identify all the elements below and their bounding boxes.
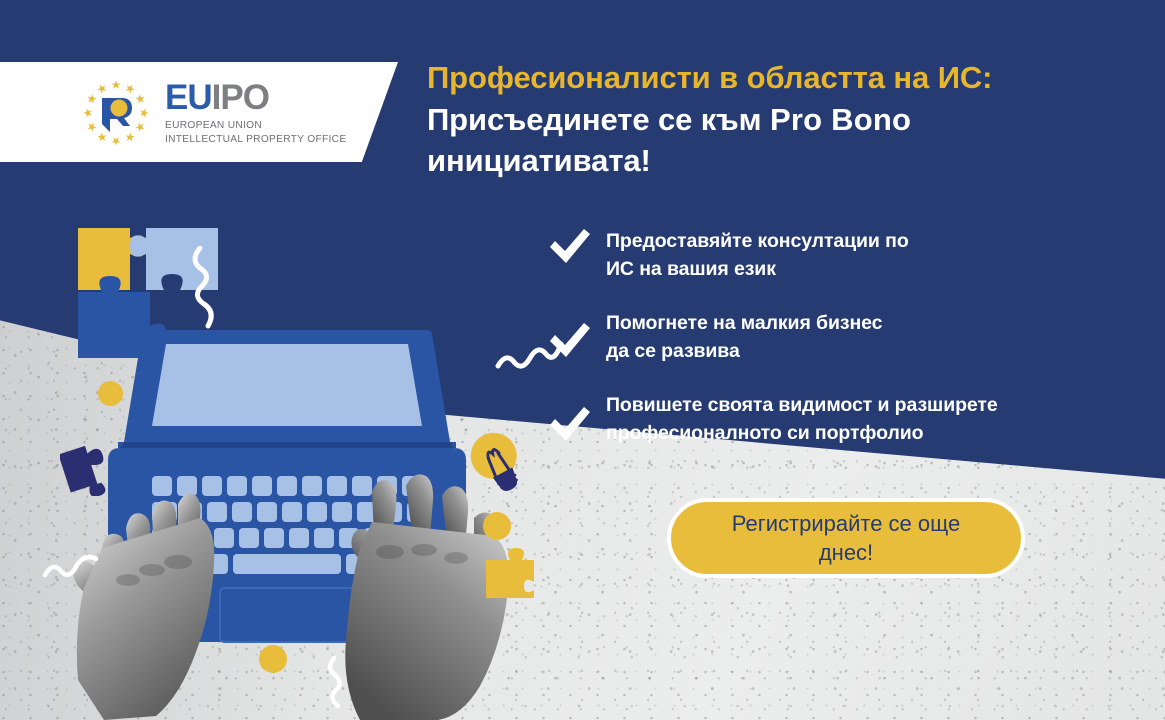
headline-line-2-emphasis: Pro Bono (770, 102, 911, 137)
list-item-line1: Предоставяйте консултации по (606, 230, 909, 252)
squiggle-icon (186, 246, 232, 335)
register-cta-label: Регистрирайте се още днес! (732, 509, 960, 568)
puzzle-piece-icon (484, 548, 538, 605)
register-cta-line1: Регистрирайте се още (732, 511, 960, 536)
check-icon (548, 322, 592, 360)
headline-line-3: инициативата! (427, 140, 1047, 182)
typing-hands-photo (60, 470, 530, 720)
dot-icon (483, 512, 511, 540)
list-item: Предоставяйте консултации по ИС на вашия… (548, 226, 1068, 284)
dot-icon (259, 645, 287, 673)
headline-line-2: Присъединете се към Pro Bono (427, 99, 1047, 141)
list-item: Повишете своята видимост и разширете про… (548, 390, 1068, 448)
check-icon (548, 406, 592, 444)
list-item-text: Помогнете на малкия бизнес да се развива (606, 308, 882, 366)
eu-stars-emblem-icon (78, 80, 154, 146)
list-item-line2: да се развива (606, 340, 740, 362)
list-item-text: Предоставяйте консултации по ИС на вашия… (606, 226, 909, 284)
logo-eu-text: EU (165, 80, 212, 115)
lightbulb-icon (463, 425, 533, 512)
logo-subtitle-line2: INTELLECTUAL PROPERTY OFFICE (165, 133, 346, 146)
headline-line-2-prefix: Присъединете се към (427, 102, 770, 137)
promotional-banner: EU IPO EUROPEAN UNION INTELLECTUAL PROPE… (0, 0, 1165, 720)
euipo-logo: EU IPO EUROPEAN UNION INTELLECTUAL PROPE… (78, 80, 346, 146)
list-item-text: Повишете своята видимост и разширете про… (606, 390, 998, 448)
check-icon (548, 228, 592, 266)
list-item-line1: Повишете своята видимост и разширете (606, 394, 998, 416)
headline: Професионалисти в областта на ИС: Присъе… (427, 57, 1047, 182)
logo-subtitle-line1: EUROPEAN UNION (165, 119, 346, 132)
list-item-line1: Помогнете на малкия бизнес (606, 312, 882, 334)
benefit-list: Предоставяйте консултации по ИС на вашия… (548, 226, 1068, 448)
dot-icon (98, 381, 123, 406)
logo-ipo-text: IPO (212, 80, 269, 115)
puzzle-piece-icon (60, 440, 116, 501)
squiggle-icon (42, 553, 100, 584)
headline-line-1: Професионалисти в областта на ИС: (427, 57, 1047, 99)
list-item: Помогнете на малкия бизнес да се развива (548, 308, 1068, 366)
list-item-line2: ИС на вашия език (606, 258, 776, 280)
squiggle-icon (324, 656, 358, 713)
register-cta-line2: днес! (819, 540, 873, 565)
list-item-line2: професионалното си портфолио (606, 422, 923, 444)
register-cta-button[interactable]: Регистрирайте се още днес! (667, 498, 1025, 578)
